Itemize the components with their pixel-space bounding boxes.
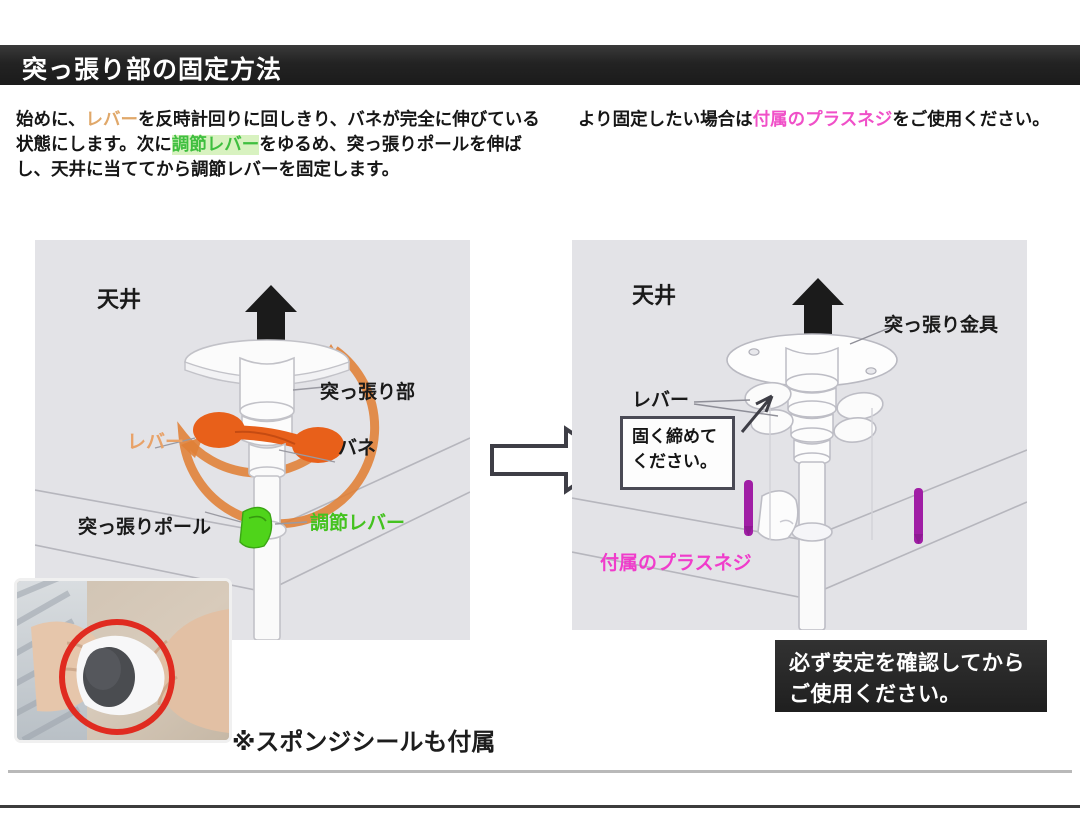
intro-paragraph-right: より固定したい場合は付属のプラスネジをご使用ください。	[578, 108, 1070, 133]
label-tension-pole: 突っ張りポール	[78, 512, 211, 539]
label-plus-screws: 付属のプラスネジ	[600, 548, 752, 575]
photo-caption: ※スポンジシールも付属	[232, 722, 495, 757]
adjust-lever-icon	[758, 491, 798, 540]
photo-content-icon	[17, 581, 229, 740]
label-lever-right: レバー	[632, 385, 689, 412]
divider-dark	[0, 805, 1080, 808]
notice-line2: ご使用ください。	[789, 679, 1047, 710]
page-title: 突っ張り部の固定方法	[22, 50, 282, 86]
panel-left-ceiling-label: 天井	[97, 282, 141, 314]
pole-icon	[792, 462, 832, 630]
safety-notice-box: 必ず安定を確認してから ご使用ください。	[775, 640, 1047, 712]
callout-line2: ください。	[632, 450, 725, 475]
callout-pointer-icon	[720, 392, 780, 442]
label-spring: バネ	[338, 433, 376, 460]
label-adjust-lever: 調節レバー	[310, 508, 405, 535]
screw-hole-icon	[866, 368, 876, 374]
sponge-seal-photo	[14, 578, 232, 743]
callout-line1: 固く締めて	[632, 425, 725, 450]
label-lever: レバー	[127, 427, 184, 454]
label-tension-part: 突っ張り部	[320, 377, 415, 404]
intro-left-seg1: 始めに、	[16, 110, 85, 130]
notice-line1: 必ず安定を確認してから	[789, 648, 1047, 679]
callout-box: 固く締めて ください。	[620, 416, 735, 490]
intro-right-seg1: より固定したい場合は	[578, 110, 753, 130]
intro-left-highlight-lever: レバー	[85, 110, 138, 130]
bracket-body-icon	[786, 348, 838, 465]
intro-right-highlight-screws: 付属のプラスネジ	[753, 110, 893, 130]
label-tension-bracket: 突っ張り金具	[884, 310, 998, 337]
intro-right-seg2: をご使用ください。	[892, 110, 1050, 130]
intro-left-highlight-adjust-lever: 調節レバー	[172, 135, 260, 155]
panel-right-ceiling-label: 天井	[632, 278, 676, 310]
adjust-lever-icon	[240, 507, 272, 547]
divider-gray	[8, 770, 1072, 773]
intro-paragraph-left: 始めに、レバーを反時計回りに回しきり、バネが完全に伸びている状態にします。次に調…	[16, 108, 546, 183]
screw-hole-icon	[749, 349, 759, 355]
